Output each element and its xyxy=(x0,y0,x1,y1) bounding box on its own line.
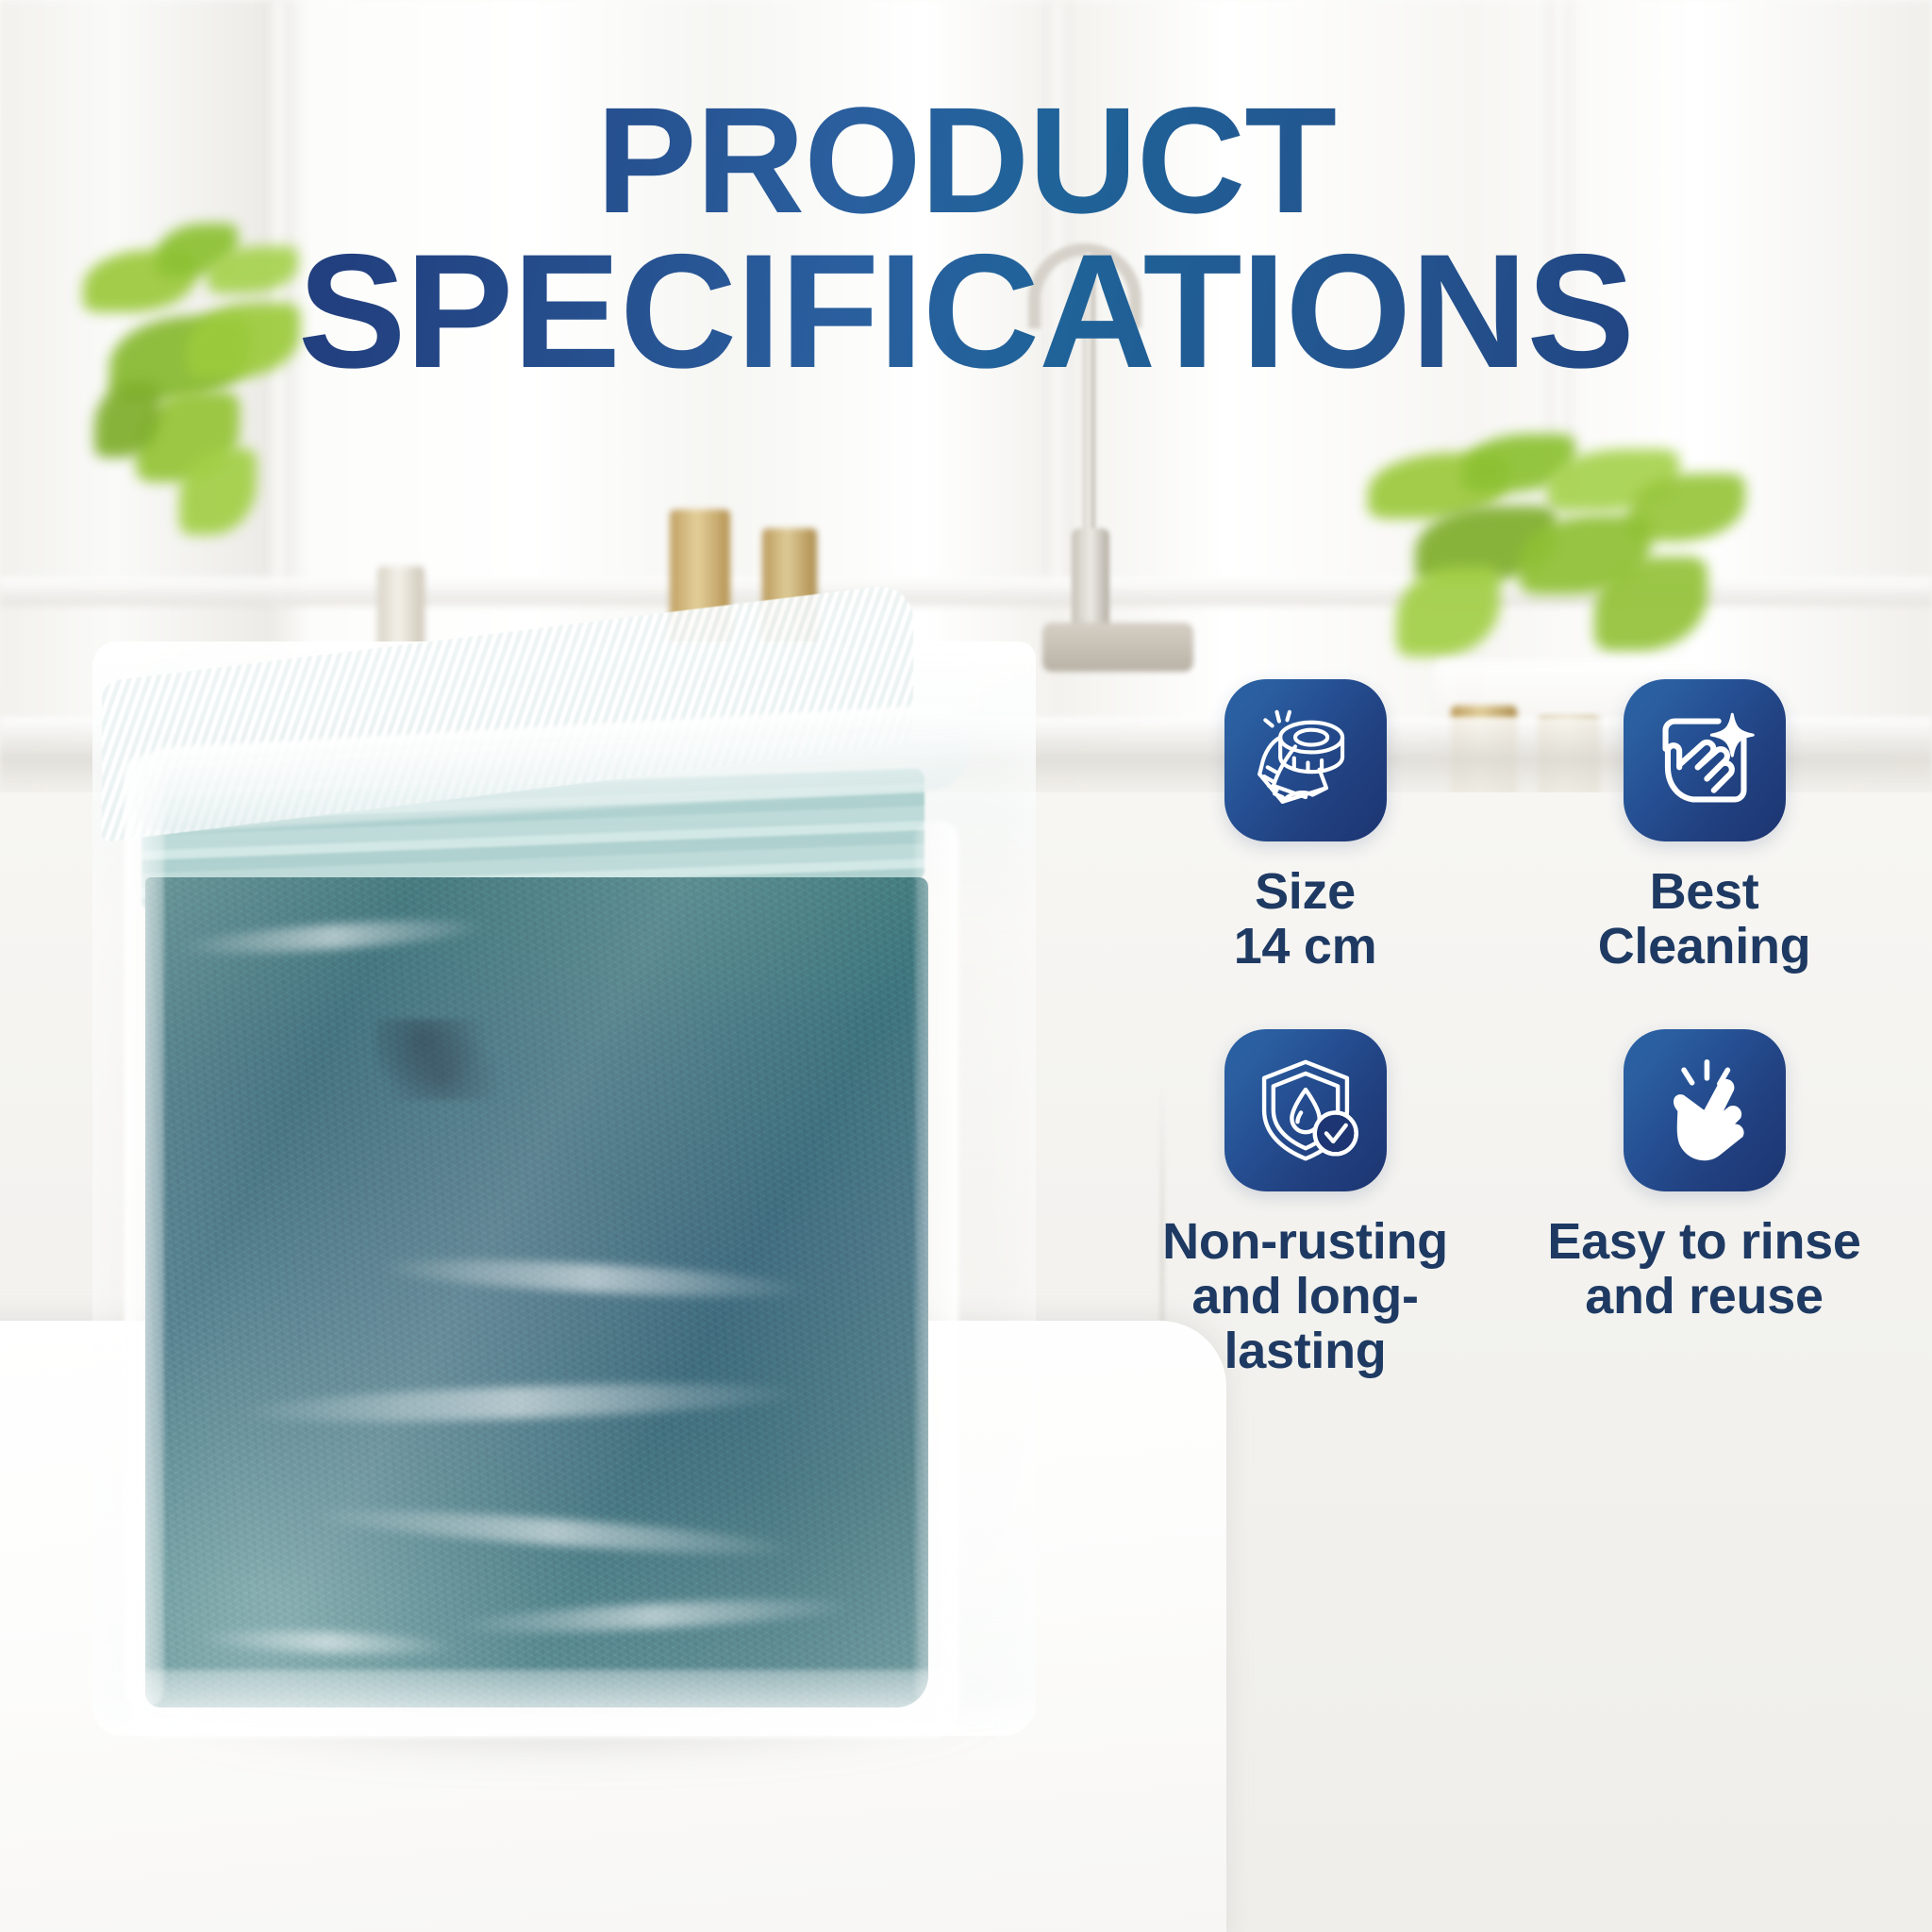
product-package xyxy=(92,641,1036,1745)
feature-size: Size 14 cm xyxy=(1123,679,1488,974)
pad-fiber-texture xyxy=(145,877,928,1707)
feature-label: Best Cleaning xyxy=(1598,864,1811,974)
hand-rinse-icon xyxy=(1624,1029,1786,1191)
title-line-1: PRODUCT xyxy=(0,91,1932,231)
feature-label: Size 14 cm xyxy=(1234,864,1377,974)
product-image xyxy=(85,641,1066,1774)
title-line-2: SPECIFICATIONS xyxy=(0,237,1932,388)
bag-bottom-edge xyxy=(130,1670,960,1738)
pad-printed-mark xyxy=(375,1019,498,1100)
hand-wipe-sparkle-icon xyxy=(1624,679,1786,841)
feature-non-rusting: Non-rusting and long-lasting xyxy=(1123,1029,1488,1379)
feature-label: Non-rusting and long-lasting xyxy=(1123,1214,1488,1379)
shield-waterdrop-check-icon xyxy=(1224,1029,1387,1191)
feature-easy-rinse: Easy to rinse and reuse xyxy=(1522,1029,1887,1379)
feature-best-cleaning: Best Cleaning xyxy=(1522,679,1887,974)
bag-left-edge xyxy=(125,755,164,1707)
scouring-pad-face xyxy=(145,877,928,1707)
bag-right-edge xyxy=(915,821,958,1707)
measuring-tape-icon xyxy=(1224,679,1387,841)
page-title: PRODUCT SPECIFICATIONS xyxy=(0,91,1932,388)
feature-label: Easy to rinse and reuse xyxy=(1547,1214,1860,1324)
feature-grid: Size 14 cm Best Cleaning xyxy=(1123,679,1887,1379)
